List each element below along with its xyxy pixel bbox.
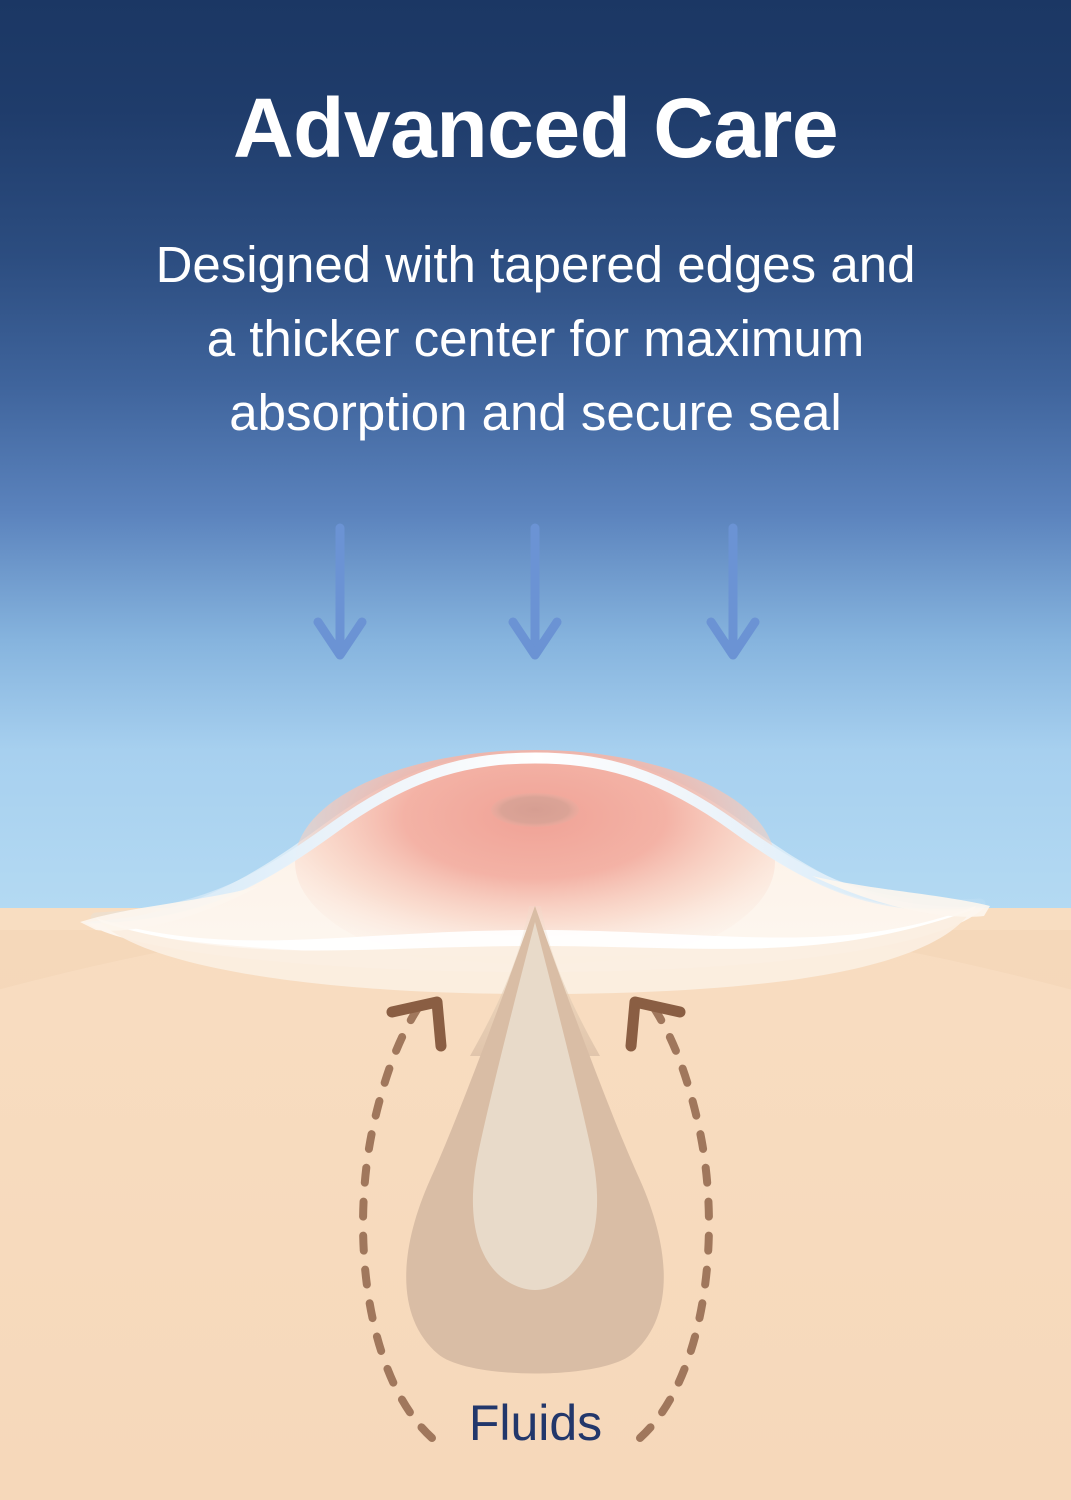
illustration-canvas [0,0,1071,1500]
advanced-care-poster: Advanced Care Designed with tapered edge… [0,0,1071,1500]
wound-center-ellipse [491,793,579,827]
